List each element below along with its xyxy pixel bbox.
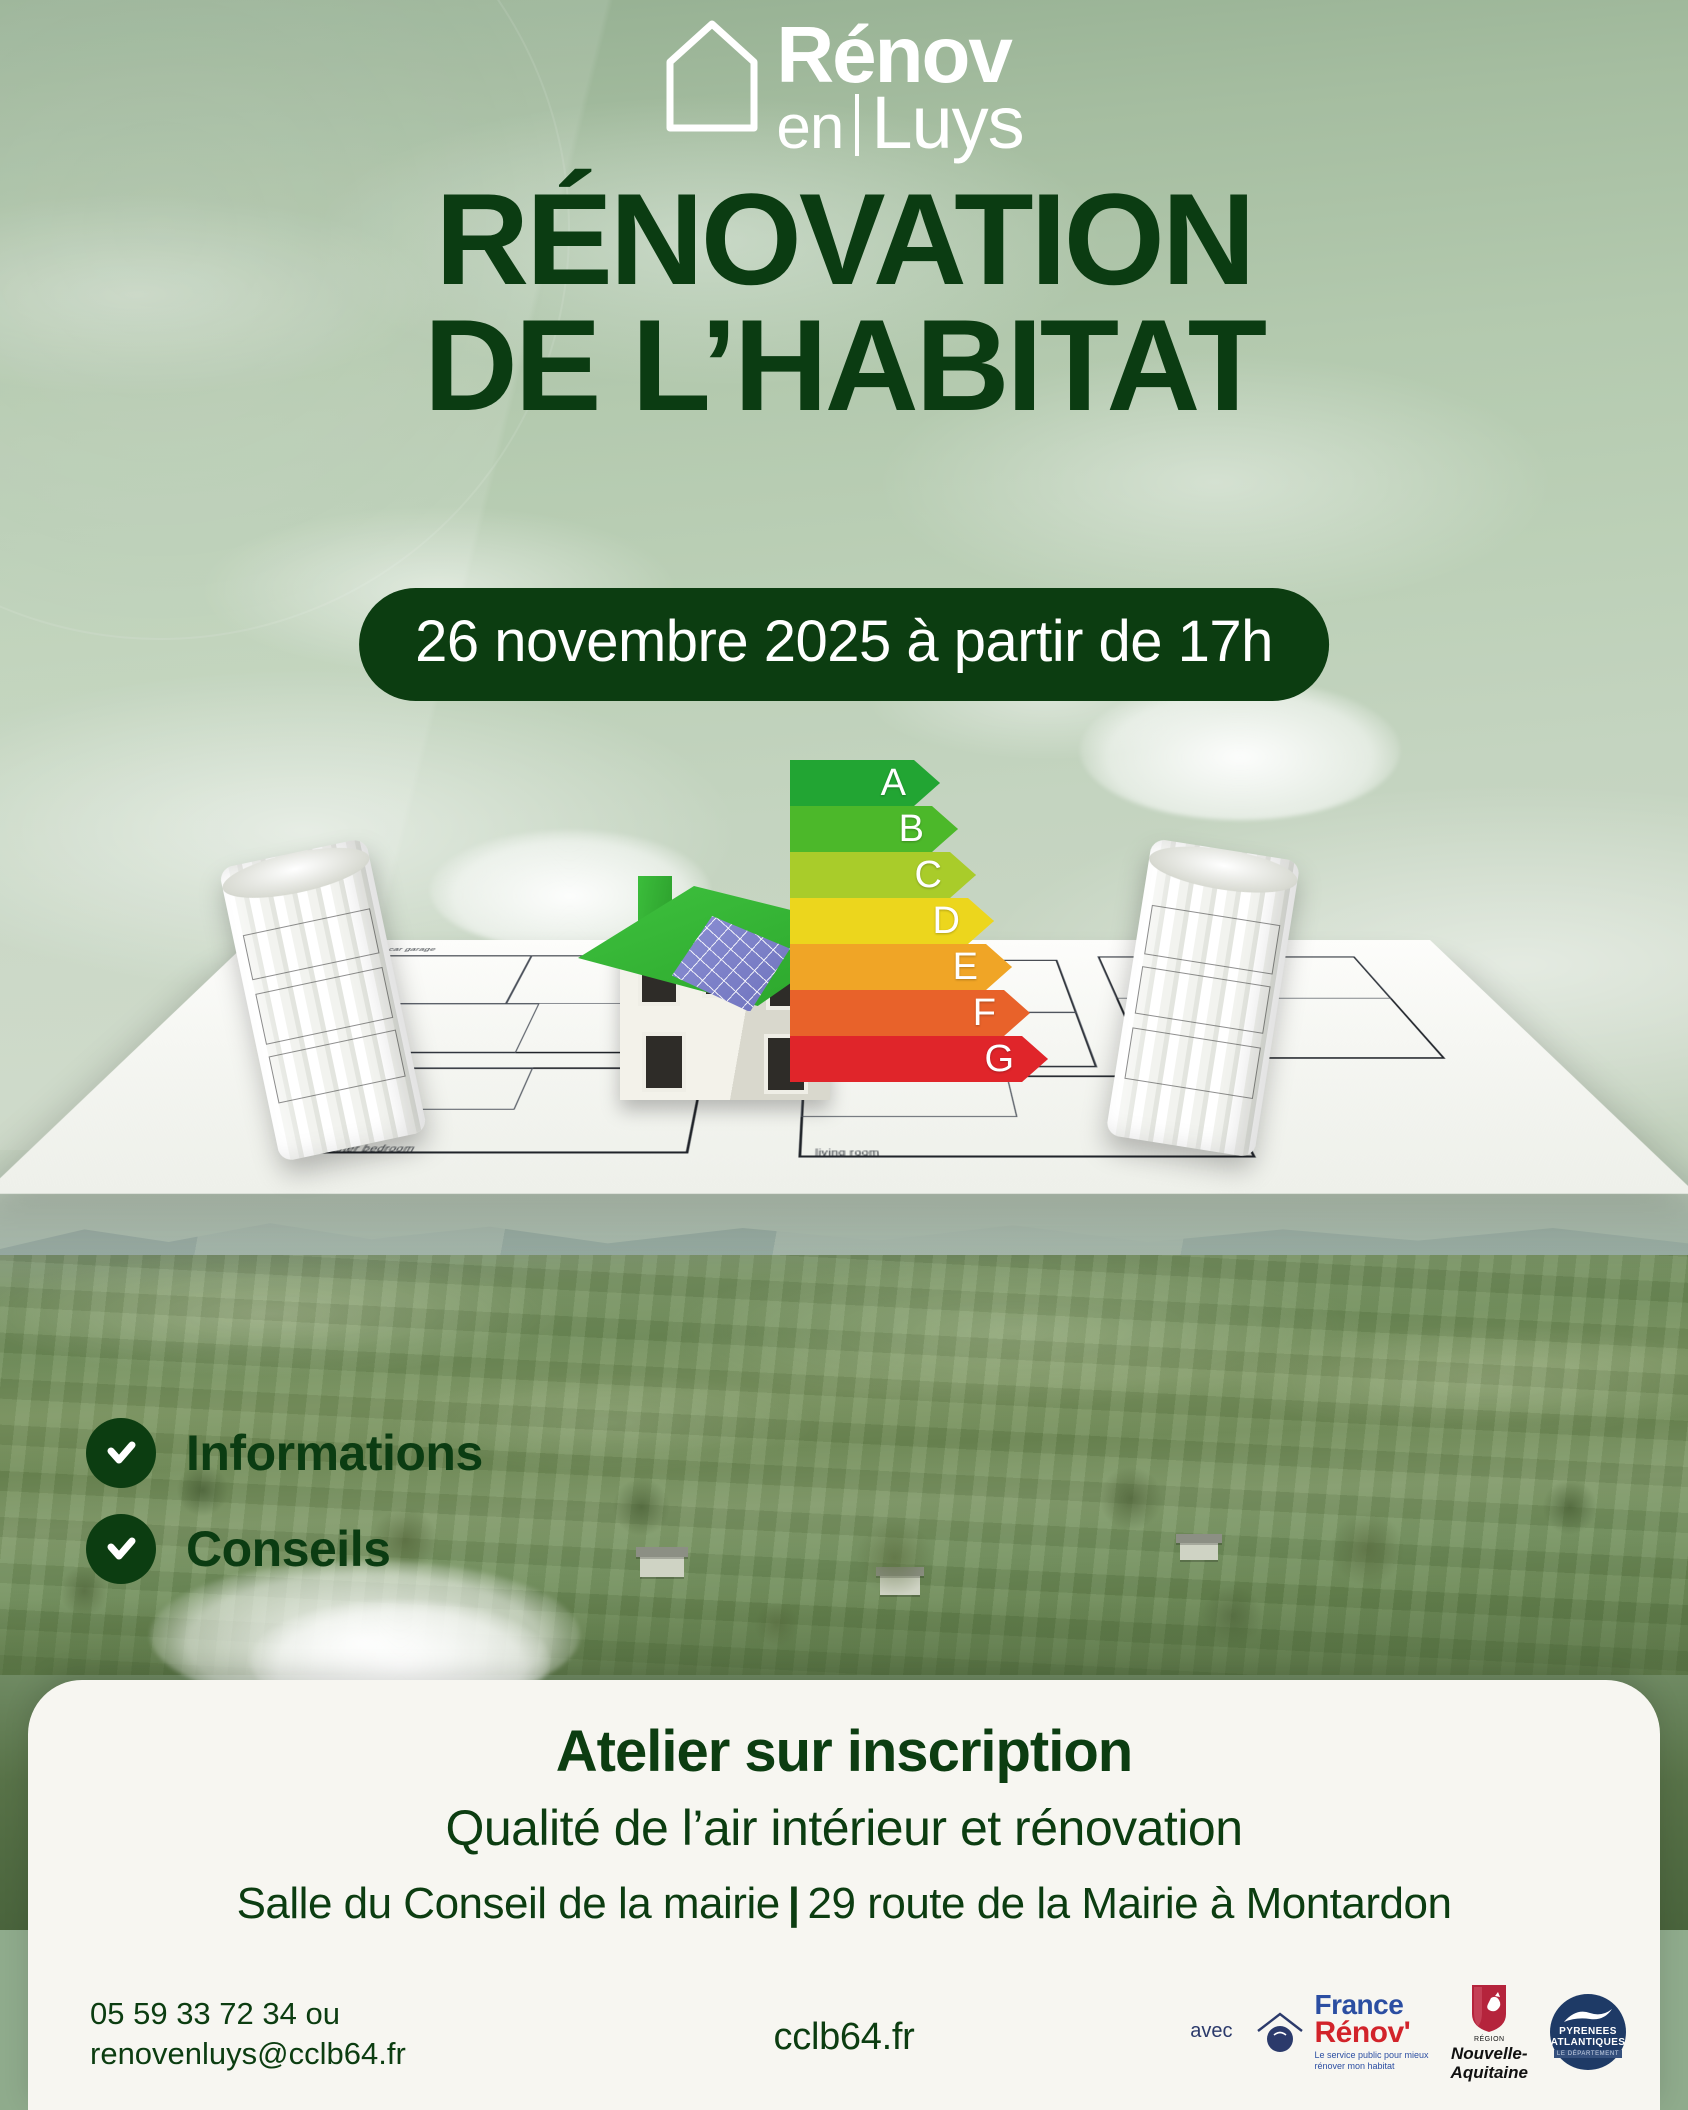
- email-line[interactable]: renovenluys@cclb64.fr: [90, 2034, 406, 2074]
- france-renov-text: France Rénov' Le service public pour mie…: [1314, 1992, 1428, 2071]
- renov-word: Rénov': [1314, 2019, 1428, 2048]
- house-outline-icon: [664, 18, 760, 134]
- window: [646, 1036, 682, 1088]
- pa-line2: ATLANTIQUES: [1551, 2038, 1626, 2048]
- contact-block: 05 59 33 72 34 ou renovenluys@cclb64.fr: [90, 1994, 406, 2073]
- france-renov-tagline: Le service public pour mieux rénover mon…: [1314, 2050, 1428, 2071]
- pa-line3: LE DÉPARTEMENT: [1554, 2050, 1622, 2058]
- energy-label-d: D: [790, 898, 994, 944]
- energy-label-b: B: [790, 806, 958, 852]
- brand-logo: Rénov en Luys: [0, 18, 1688, 157]
- card-title: Atelier sur inscription: [28, 1680, 1660, 1785]
- shield-icon: [1469, 1982, 1509, 2034]
- card-address: Salle du Conseil de la mairie|29 route d…: [28, 1879, 1660, 1929]
- energy-label-a: A: [790, 760, 940, 806]
- france-renov-logo: France Rénov' Le service public pour mie…: [1254, 1992, 1428, 2071]
- website-link[interactable]: cclb64.fr: [774, 2016, 915, 2059]
- check-icon: [86, 1418, 156, 1488]
- phone-line: 05 59 33 72 34 ou: [90, 1994, 406, 2034]
- nouvelle-aquitaine-logo: RÉGION Nouvelle- Aquitaine: [1451, 1982, 1528, 2081]
- energy-label-c: C: [790, 852, 976, 898]
- na-eyebrow: RÉGION: [1474, 2036, 1505, 2043]
- landscape-house-roof: [636, 1547, 688, 1557]
- address-separator: |: [780, 1879, 808, 1928]
- energy-label-f: F: [790, 990, 1030, 1036]
- page-title: RÉNOVATION DE L’HABITAT: [0, 176, 1688, 428]
- list-item: Conseils: [86, 1514, 483, 1584]
- brand-en: en: [776, 99, 843, 156]
- event-date-banner: 26 novembre 2025 à partir de 17h: [359, 588, 1329, 701]
- partner-logos: avec France Rénov' Le service publi: [1190, 1982, 1626, 2081]
- card-subtitle: Qualité de l’air intérieur et rénovation: [28, 1799, 1660, 1857]
- energy-rating-chart: A B C D E F G: [790, 760, 1120, 1090]
- street-address: 29 route de la Mairie à Montardon: [808, 1879, 1452, 1928]
- wave-icon: [1562, 2006, 1614, 2026]
- na-name-line2: Aquitaine: [1451, 2064, 1528, 2081]
- roll-cap: [1146, 838, 1300, 901]
- landscape-house-roof: [1176, 1534, 1222, 1543]
- poster-root: Rénov en Luys RÉNOVATION DE L’HABITAT 26…: [0, 0, 1688, 2110]
- pa-line1: PYRENEES: [1559, 2027, 1617, 2037]
- na-name-line1: Nouvelle-: [1451, 2045, 1528, 2062]
- page-title-line1: RÉNOVATION: [435, 166, 1252, 312]
- tagline-line2: rénover mon habitat: [1314, 2061, 1394, 2071]
- energy-label-g: G: [790, 1036, 1048, 1082]
- landscape-house-roof: [876, 1567, 924, 1576]
- checklist-label: Conseils: [186, 1520, 390, 1578]
- roll-cap: [218, 838, 373, 908]
- page-title-line2: DE L’HABITAT: [0, 302, 1688, 428]
- brand-second-line: en Luys: [776, 86, 1023, 157]
- landscape-house: [640, 1555, 684, 1577]
- pyrenees-atlantiques-logo: PYRENEES ATLANTIQUES LE DÉPARTEMENT: [1550, 1994, 1626, 2070]
- energy-label-e: E: [790, 944, 1012, 990]
- brand-divider: [855, 94, 859, 156]
- info-card: Atelier sur inscription Qualité de l’air…: [28, 1680, 1660, 2110]
- footer: 05 59 33 72 34 ou renovenluys@cclb64.fr …: [28, 1972, 1660, 2092]
- avec-label: avec: [1190, 2020, 1232, 2043]
- landscape-house: [1180, 1541, 1218, 1560]
- tagline-line1: Le service public pour mieux: [1314, 2050, 1428, 2060]
- checklist: Informations Conseils: [86, 1418, 483, 1610]
- landscape-house: [880, 1575, 920, 1595]
- brand-wordmark: Rénov en Luys: [776, 18, 1023, 157]
- checklist-label: Informations: [186, 1424, 483, 1482]
- brand-luys: Luys: [871, 89, 1023, 157]
- list-item: Informations: [86, 1418, 483, 1488]
- france-renov-house-icon: [1254, 2009, 1306, 2055]
- france-word: France: [1314, 1992, 1428, 2019]
- check-icon: [86, 1514, 156, 1584]
- venue-name: Salle du Conseil de la mairie: [237, 1879, 780, 1928]
- illustration: master bedroom living room patio kitchen…: [0, 760, 1688, 1320]
